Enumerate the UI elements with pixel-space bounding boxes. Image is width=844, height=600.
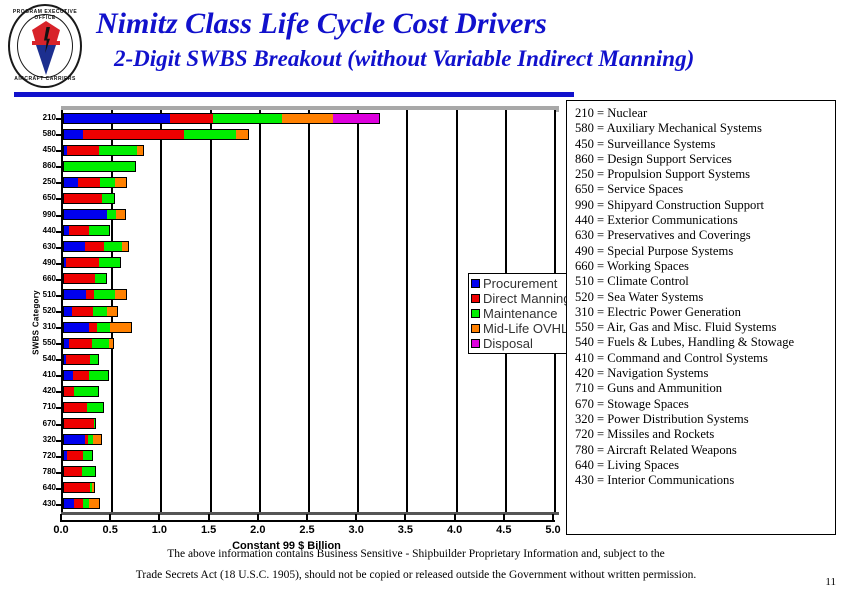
key-list-item: 510 = Climate Control [575,274,831,289]
bar-segment-procurement[interactable] [64,290,86,299]
key-list-item: 440 = Exterior Communications [575,213,831,228]
bar-row[interactable] [63,113,380,124]
bar-row[interactable] [63,177,127,188]
x-axis-tick-label: 0.5 [90,524,130,536]
bar-segment-direct-manning[interactable] [66,355,90,364]
y-axis-tick-label: 650 [30,193,56,203]
slide-footer: The above information contains Business … [0,548,844,581]
bar-segment-procurement[interactable] [64,323,89,332]
legend-item[interactable]: Disposal [471,336,570,351]
plot-area: ProcurementDirect ManningMaintenanceMid-… [61,110,555,512]
header-divider [14,92,574,97]
stacked-bar[interactable] [63,289,127,300]
key-list-item: 540 = Fuels & Lubes, Handling & Stowage [575,335,831,350]
stacked-bar[interactable] [63,113,380,124]
legend-label: Disposal [483,337,533,351]
legend-item[interactable]: Direct Manning [471,291,570,306]
bar-row[interactable] [63,322,132,333]
bar-segment-procurement[interactable] [64,499,74,508]
bar-segment-maintenance[interactable] [64,162,135,171]
stacked-bar[interactable] [63,386,99,397]
legend-label: Direct Manning [483,292,570,306]
bar-segment-mid-life-ovhl[interactable] [236,130,248,139]
bar-segment-direct-manning[interactable] [64,467,82,476]
chart-panel: SWBS Category 21058045086025065099044063… [14,100,559,535]
y-axis-tick-label: 860 [30,161,56,171]
y-axis-tick [56,231,61,233]
x-axis-tick-label: 4.0 [435,524,475,536]
y-axis-tick-label: 630 [30,242,56,252]
peo-aircraft-carriers-seal-icon: PROGRAM EXECUTIVE OFFICE AIRCRAFT CARRIE… [8,4,86,90]
swbs-key-panel: 210 = Nuclear580 = Auxiliary Mechanical … [566,100,836,535]
y-axis-tick-label: 670 [30,419,56,429]
bar-segment-maintenance[interactable] [90,355,99,364]
bar-segment-maintenance[interactable] [100,178,115,187]
stacked-bar[interactable] [63,209,126,220]
stacked-bar[interactable] [63,225,110,236]
y-axis-tick-label: 780 [30,467,56,477]
slide-header: PROGRAM EXECUTIVE OFFICE AIRCRAFT CARRIE… [0,0,844,96]
legend-item[interactable]: Maintenance [471,306,570,321]
stacked-bar[interactable] [63,402,104,413]
bar-segment-maintenance[interactable] [95,274,107,283]
bar-row[interactable] [63,418,96,429]
x-axis-tick [503,514,505,522]
stacked-bar[interactable] [63,257,121,268]
footer-line-1: The above information contains Business … [0,548,844,560]
legend-swatch-icon [471,339,480,348]
title-block: Nimitz Class Life Cycle Cost Drivers 2-D… [96,6,836,73]
key-list-item: 860 = Design Support Services [575,152,831,167]
bar-row[interactable] [63,273,107,284]
seal-text-top: PROGRAM EXECUTIVE OFFICE [8,9,82,21]
bar-row[interactable] [63,145,144,156]
bar-segment-procurement[interactable] [64,210,107,219]
y-axis-tick-label: 430 [30,499,56,509]
bar-segment-direct-manning[interactable] [89,323,98,332]
bar-segment-mid-life-ovhl[interactable] [116,210,125,219]
bar-segment-mid-life-ovhl[interactable] [122,242,128,251]
bar-segment-direct-manning[interactable] [67,146,99,155]
y-axis-tick [56,391,61,393]
bar-segment-direct-manning[interactable] [67,451,83,460]
bar-segment-mid-life-ovhl[interactable] [115,290,126,299]
y-axis-tick-label: 440 [30,226,56,236]
y-axis-tick-label: 580 [30,129,56,139]
bar-segment-direct-manning[interactable] [64,403,87,412]
stacked-bar[interactable] [63,177,127,188]
key-list-item: 310 = Electric Power Generation [575,305,831,320]
bar-segment-maintenance[interactable] [104,242,122,251]
bar-segment-mid-life-ovhl[interactable] [109,339,113,348]
bar-segment-direct-manning[interactable] [83,130,184,139]
key-list-item: 210 = Nuclear [575,106,831,121]
y-axis-tick [56,488,61,490]
key-list-item: 710 = Guns and Ammunition [575,381,831,396]
y-axis-tick-label: 540 [30,354,56,364]
bar-segment-mid-life-ovhl[interactable] [110,323,131,332]
y-axis-tick [56,375,61,377]
legend-swatch-icon [471,279,480,288]
x-axis-tick [158,514,160,522]
stacked-bar[interactable] [63,482,95,493]
y-axis-tick [56,134,61,136]
y-axis-tick-labels: 2105804508602506509904406304906605105203… [22,110,56,512]
key-list-item: 410 = Command and Control Systems [575,351,831,366]
bar-row[interactable] [63,434,102,445]
x-axis-tick [306,514,308,522]
bar-segment-mid-life-ovhl[interactable] [89,499,100,508]
x-axis-tick [257,514,259,522]
key-list-item: 660 = Working Spaces [575,259,831,274]
bar-segment-direct-manning[interactable] [69,226,89,235]
seal-text-bottom: AIRCRAFT CARRIERS [8,76,82,82]
x-axis-tick [552,514,554,522]
bar-row[interactable] [63,225,110,236]
bar-row[interactable] [63,402,104,413]
stacked-bar[interactable] [63,370,109,381]
bar-row[interactable] [63,306,118,317]
stacked-bar[interactable] [63,450,93,461]
x-axis-tick-label: 1.5 [189,524,229,536]
bar-segment-mid-life-ovhl[interactable] [93,435,102,444]
stacked-bar[interactable] [63,322,132,333]
y-axis-tick [56,279,61,281]
bar-row[interactable] [63,498,100,509]
y-axis-tick-label: 550 [30,338,56,348]
bar-segment-mid-life-ovhl[interactable] [137,146,143,155]
bar-segment-direct-manning[interactable] [64,483,90,492]
bar-row[interactable] [63,257,121,268]
bar-segment-direct-manning[interactable] [74,499,83,508]
y-axis-tick [56,295,61,297]
legend-swatch-icon [471,309,480,318]
bar-segment-direct-manning[interactable] [170,114,212,123]
y-axis-tick-label: 520 [30,306,56,316]
y-axis-tick [56,150,61,152]
stacked-bar[interactable] [63,241,129,252]
bar-segment-direct-manning[interactable] [66,258,99,267]
bar-segment-direct-manning[interactable] [86,290,94,299]
stacked-bar[interactable] [63,273,107,284]
bar-segment-mid-life-ovhl[interactable] [282,114,332,123]
bar-segment-procurement[interactable] [64,130,83,139]
y-axis-tick [56,407,61,409]
chart-legend: ProcurementDirect ManningMaintenanceMid-… [468,273,575,354]
stacked-bar[interactable] [63,161,136,172]
legend-item[interactable]: Mid-Life OVHL [471,321,570,336]
bar-segment-direct-manning[interactable] [64,194,102,203]
x-axis-tick [404,514,406,522]
stacked-bar[interactable] [63,306,118,317]
footer-line-2: Trade Secrets Act (18 U.S.C. 1905), shou… [0,569,844,581]
page-number: 11 [825,576,836,588]
x-axis-tick [109,514,111,522]
bar-segment-procurement[interactable] [64,307,72,316]
legend-swatch-icon [471,294,480,303]
bar-segment-maintenance[interactable] [89,226,110,235]
x-axis-tick-label: 1.0 [139,524,179,536]
bar-segment-maintenance[interactable] [213,114,283,123]
seal-inner-ring [17,14,73,78]
x-axis-tick-label: 4.5 [484,524,524,536]
key-list-item: 670 = Stowage Spaces [575,397,831,412]
bar-segment-direct-manning[interactable] [72,307,93,316]
bar-segment-maintenance[interactable] [94,290,116,299]
stacked-bar[interactable] [63,354,99,365]
page-subtitle: 2-Digit SWBS Breakout (without Variable … [114,45,836,73]
bar-row[interactable] [63,129,249,140]
legend-label: Mid-Life OVHL [483,322,568,336]
bar-segment-mid-life-ovhl[interactable] [115,178,126,187]
y-axis-tick-label: 510 [30,290,56,300]
bar-segment-direct-manning[interactable] [64,387,74,396]
legend-item[interactable]: Procurement [471,276,570,291]
bar-row[interactable] [63,289,127,300]
key-list-item: 430 = Interior Communications [575,473,831,488]
y-axis-tick-label: 660 [30,274,56,284]
y-axis-tick [56,166,61,168]
legend-label: Procurement [483,277,557,291]
x-axis-tick-label: 2.0 [238,524,278,536]
y-axis-tick [56,456,61,458]
bar-segment-mid-life-ovhl[interactable] [107,307,117,316]
y-axis-tick [56,343,61,345]
y-axis-tick [56,247,61,249]
x-axis-line-lower [61,520,555,522]
bar-segment-direct-manning[interactable] [69,339,92,348]
bar-row[interactable] [63,338,114,349]
bar-segment-direct-manning[interactable] [64,419,94,428]
x-axis-tick-label: 3.5 [385,524,425,536]
stacked-bar[interactable] [63,193,115,204]
key-list-item: 550 = Air, Gas and Misc. Fluid Systems [575,320,831,335]
bar-segment-maintenance[interactable] [99,258,120,267]
y-axis-tick [56,359,61,361]
x-axis-tick-label: 0.0 [41,524,81,536]
bar-segment-direct-manning[interactable] [73,371,89,380]
y-axis-tick [56,504,61,506]
y-axis-tick [56,263,61,265]
y-axis-tick-label: 420 [30,386,56,396]
x-axis-tick [60,514,62,522]
y-axis-tick [56,440,61,442]
seal-stripe [32,41,60,45]
bar-segment-direct-manning[interactable] [85,242,105,251]
bar-segment-maintenance[interactable] [97,323,110,332]
bar-segment-procurement[interactable] [64,242,85,251]
key-list-item: 630 = Preservatives and Coverings [575,228,831,243]
y-axis-line [61,110,63,512]
bar-row[interactable] [63,466,96,477]
y-axis-tick-label: 250 [30,177,56,187]
key-list-item: 640 = Living Spaces [575,458,831,473]
bar-row[interactable] [63,241,129,252]
bar-segment-disposal[interactable] [333,114,379,123]
y-axis-tick-label: 450 [30,145,56,155]
bar-segment-mid-life-ovhl[interactable] [92,483,95,492]
y-axis-tick-label: 210 [30,113,56,123]
bar-segment-procurement[interactable] [64,435,85,444]
stacked-bar[interactable] [63,498,100,509]
stacked-bar[interactable] [63,129,249,140]
x-axis-line-upper [61,512,559,515]
bar-segment-maintenance[interactable] [94,419,96,428]
y-axis-tick [56,182,61,184]
key-list-item: 320 = Power Distribution Systems [575,412,831,427]
bar-segment-maintenance[interactable] [107,210,116,219]
bar-segment-maintenance[interactable] [74,387,99,396]
x-axis-tick-label: 3.0 [336,524,376,536]
key-list-item: 450 = Surveillance Systems [575,137,831,152]
legend-label: Maintenance [483,307,557,321]
bar-segment-maintenance[interactable] [184,130,236,139]
y-axis-tick [56,118,61,120]
bar-segment-maintenance[interactable] [87,403,104,412]
y-axis-tick [56,215,61,217]
bar-row[interactable] [63,370,109,381]
key-list-item: 580 = Auxiliary Mechanical Systems [575,121,831,136]
bar-segment-maintenance[interactable] [92,339,110,348]
y-axis-tick [56,198,61,200]
key-list-item: 720 = Missiles and Rockets [575,427,831,442]
key-list-item: 780 = Aircraft Related Weapons [575,443,831,458]
key-list-item: 490 = Special Purpose Systems [575,244,831,259]
y-axis-tick-label: 710 [30,402,56,412]
bar-segment-direct-manning[interactable] [64,274,95,283]
bar-row[interactable] [63,386,99,397]
y-axis-tick [56,472,61,474]
bar-segment-procurement[interactable] [64,114,170,123]
y-axis-tick-label: 490 [30,258,56,268]
key-list-item: 250 = Propulsion Support Systems [575,167,831,182]
stacked-bar[interactable] [63,418,96,429]
bar-segment-maintenance[interactable] [82,467,96,476]
key-list-item: 520 = Sea Water Systems [575,290,831,305]
x-axis-tick [454,514,456,522]
page-title: Nimitz Class Life Cycle Cost Drivers [96,6,836,41]
key-list-item: 990 = Shipyard Construction Support [575,198,831,213]
y-axis-tick-label: 320 [30,435,56,445]
stacked-bar[interactable] [63,145,144,156]
bar-row[interactable] [63,450,93,461]
bar-segment-maintenance[interactable] [83,451,92,460]
key-list-item: 420 = Navigation Systems [575,366,831,381]
y-axis-tick-label: 640 [30,483,56,493]
bar-segment-maintenance[interactable] [89,371,109,380]
bar-segment-procurement[interactable] [64,178,78,187]
bar-segment-procurement[interactable] [64,371,73,380]
bar-row[interactable] [63,482,95,493]
bar-segment-maintenance[interactable] [93,307,108,316]
y-axis-tick [56,311,61,313]
bar-row[interactable] [63,193,115,204]
y-axis-tick [56,424,61,426]
x-axis-tick-label: 2.5 [287,524,327,536]
y-axis-tick-label: 410 [30,370,56,380]
key-list-item: 650 = Service Spaces [575,182,831,197]
stacked-bar[interactable] [63,338,114,349]
y-axis-tick-label: 310 [30,322,56,332]
y-axis-tick-label: 990 [30,210,56,220]
bar-row[interactable] [63,354,99,365]
y-axis-tick-label: 720 [30,451,56,461]
legend-swatch-icon [471,324,480,333]
bar-row[interactable] [63,161,136,172]
bar-row[interactable] [63,209,126,220]
bar-segment-maintenance[interactable] [102,194,114,203]
bar-segment-maintenance[interactable] [99,146,136,155]
x-axis-tick [208,514,210,522]
stacked-bar[interactable] [63,434,102,445]
stacked-bar[interactable] [63,466,96,477]
x-axis-tick [355,514,357,522]
bar-segment-direct-manning[interactable] [78,178,101,187]
y-axis-tick [56,327,61,329]
